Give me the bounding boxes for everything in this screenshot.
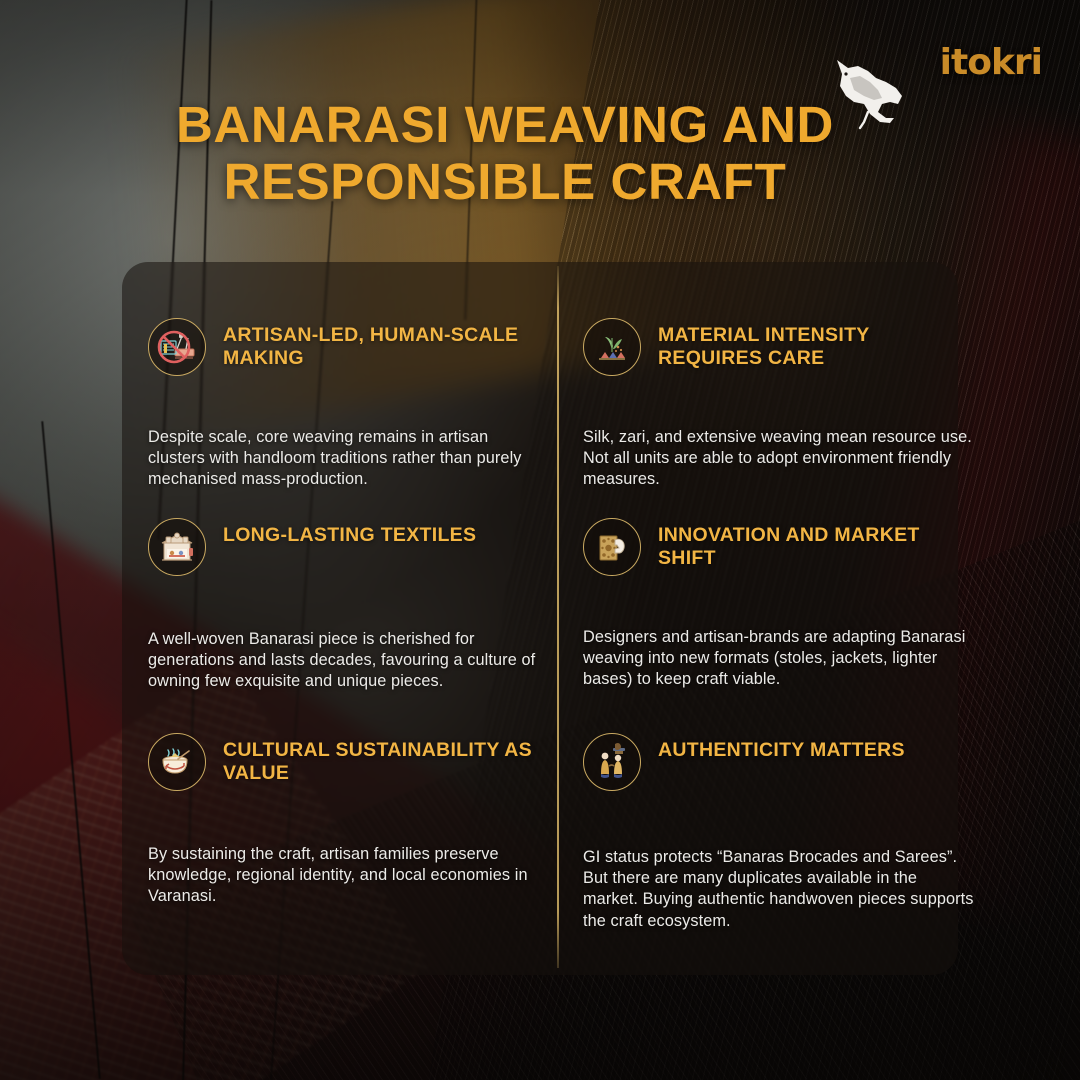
brand-logo-text: itokri (940, 42, 1042, 83)
card-title: LONG-LASTING TEXTILES (223, 518, 476, 547)
card-long-lasting-textiles-body-wrap: A well-woven Banarasi piece is cherished… (148, 607, 540, 693)
steaming-pot-icon (148, 733, 206, 791)
page-title: BANARASI WEAVING AND RESPONSIBLE CRAFT (110, 96, 900, 210)
card-innovation-market-shift: INNOVATION AND MARKET SHIFT (583, 518, 975, 576)
two-seated-artisans-icon (583, 733, 641, 791)
card-body: Despite scale, core weaving remains in a… (148, 427, 540, 491)
card-title: INNOVATION AND MARKET SHIFT (658, 518, 975, 570)
card-innovation-market-shift-body-wrap: Designers and artisan-brands are adaptin… (583, 605, 975, 691)
hand-holding-brocade-icon (583, 518, 641, 576)
header: BANARASI WEAVING AND RESPONSIBLE CRAFT i… (0, 0, 1080, 250)
card-authenticity-matters-body-wrap: GI status protects “Banaras Brocades and… (583, 825, 975, 932)
card-cultural-sustainability-body-wrap: By sustaining the craft, artisan familie… (148, 822, 540, 908)
card-body: Silk, zari, and extensive weaving mean r… (583, 427, 975, 491)
card-material-intensity-body-wrap: Silk, zari, and extensive weaving mean r… (583, 405, 975, 491)
column-divider (557, 266, 559, 968)
no-factory-machine-icon (148, 318, 206, 376)
card-body: GI status protects “Banaras Brocades and… (583, 847, 975, 932)
card-body: A well-woven Banarasi piece is cherished… (148, 629, 540, 693)
storefront-shop-icon (148, 518, 206, 576)
card-title: CULTURAL SUSTAINABILITY AS VALUE (223, 733, 540, 785)
sprouting-plant-icon (583, 318, 641, 376)
card-body: By sustaining the craft, artisan familie… (148, 844, 540, 908)
cat-logo-icon (824, 52, 912, 130)
card-material-intensity: MATERIAL INTENSITY REQUIRES CARE (583, 318, 975, 376)
card-body: Designers and artisan-brands are adaptin… (583, 627, 975, 691)
card-artisan-led: ARTISAN-LED, HUMAN-SCALE MAKING (148, 318, 540, 376)
card-title: ARTISAN-LED, HUMAN-SCALE MAKING (223, 318, 540, 370)
card-cultural-sustainability: CULTURAL SUSTAINABILITY AS VALUE (148, 733, 540, 791)
card-title: MATERIAL INTENSITY REQUIRES CARE (658, 318, 975, 370)
card-authenticity-matters: AUTHENTICITY MATTERS (583, 733, 975, 791)
card-artisan-led-body-wrap: Despite scale, core weaving remains in a… (148, 405, 540, 491)
card-long-lasting-textiles: LONG-LASTING TEXTILES (148, 518, 540, 576)
card-title: AUTHENTICITY MATTERS (658, 733, 905, 762)
